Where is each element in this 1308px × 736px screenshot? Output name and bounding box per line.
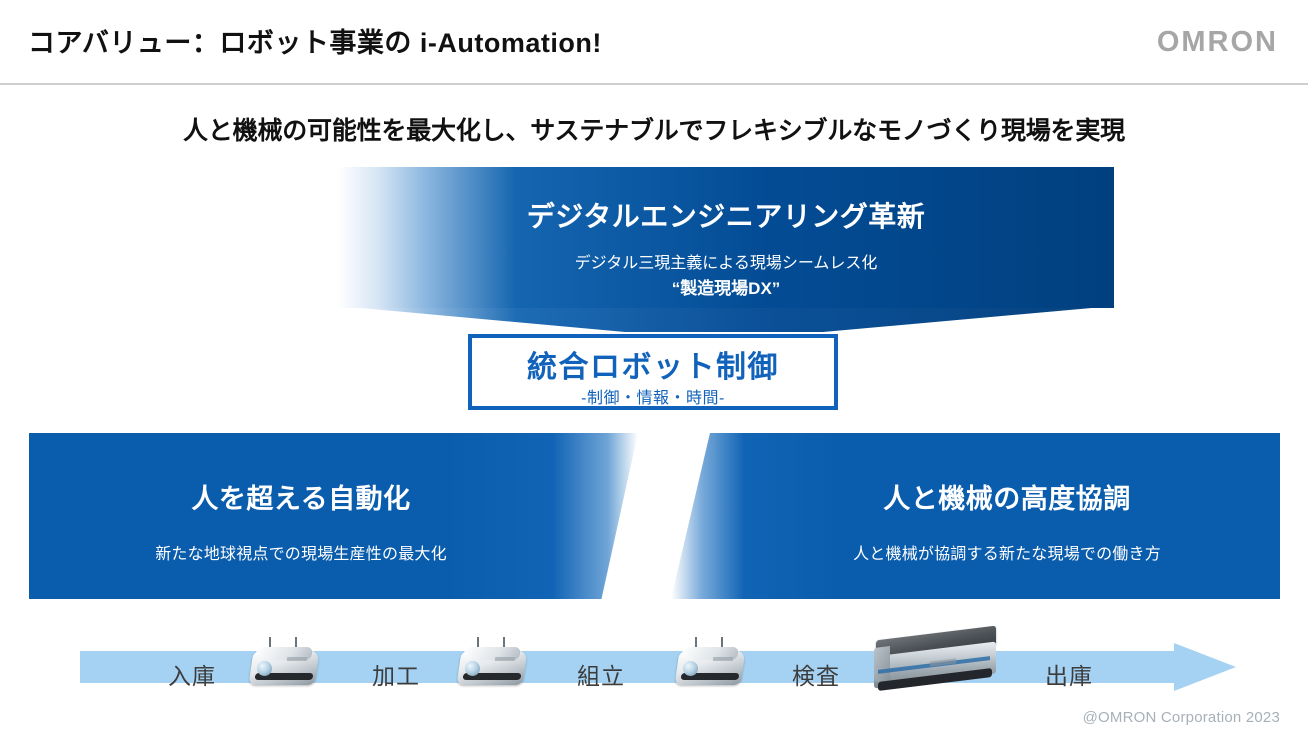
agv-transport-robot-photo — [872, 627, 1000, 693]
amr-logo-mark — [495, 657, 516, 661]
panel-heading: 人と機械の高度協調 — [735, 477, 1279, 516]
panel-heading: 人を超える自動化 — [29, 477, 573, 516]
top-banner-funnel-shape — [338, 306, 1114, 332]
flow-step-label: 組立 — [577, 657, 625, 691]
digital-engineering-banner: デジタルエンジニアリング革新 デジタル三現主義による現場シームレス化 “製造現場… — [338, 167, 1114, 308]
integrated-robot-control-box: 統合ロボット制御 -制御・情報・時間- — [468, 334, 838, 410]
amr-robot-photo — [455, 637, 529, 691]
amr-sensor-lens-icon — [257, 661, 272, 676]
banner-subline-2: “製造現場DX” — [338, 274, 1114, 299]
flow-step-label: 入庫 — [168, 657, 216, 691]
agv-front-panel — [874, 646, 890, 682]
panel-human-machine-collaboration: 人と機械の高度協調 人と機械が協調する新たな現場での働き方 — [671, 433, 1280, 599]
slide-header: コアバリュー：ロボット事業の i-Automation! OMRON — [0, 0, 1308, 84]
flow-step-label: 検査 — [792, 657, 840, 691]
center-box-heading: 統合ロボット制御 — [472, 342, 834, 386]
amr-logo-mark — [287, 657, 308, 661]
slide-subtitle: 人と機械の可能性を最大化し、サステナブルでフレキシブルなモノづくり現場を実現 — [0, 111, 1308, 147]
panel-subtitle: 新たな地球視点での現場生産性の最大化 — [29, 540, 573, 564]
omron-logo: OMRON — [1157, 26, 1278, 59]
amr-logo-mark — [713, 657, 734, 661]
amr-sensor-lens-icon — [465, 661, 480, 676]
flow-step-label: 加工 — [372, 657, 420, 691]
panel-automation-beyond-humans: 人を超える自動化 新たな地球視点での現場生産性の最大化 — [29, 433, 638, 599]
amr-robot-photo — [247, 637, 321, 691]
panel-subtitle: 人と機械が協調する新たな現場での働き方 — [735, 540, 1279, 564]
page-title: コアバリュー：ロボット事業の i-Automation! — [28, 21, 602, 60]
amr-sensor-lens-icon — [683, 661, 698, 676]
flow-step-label: 出庫 — [1045, 657, 1093, 691]
header-divider — [0, 83, 1308, 85]
banner-heading: デジタルエンジニアリング革新 — [338, 195, 1114, 235]
banner-subline-1: デジタル三現主義による現場シームレス化 — [338, 249, 1114, 273]
amr-robot-photo — [673, 637, 747, 691]
copyright-notice: @OMRON Corporation 2023 — [1083, 709, 1280, 726]
center-box-subtitle: -制御・情報・時間- — [472, 384, 834, 408]
